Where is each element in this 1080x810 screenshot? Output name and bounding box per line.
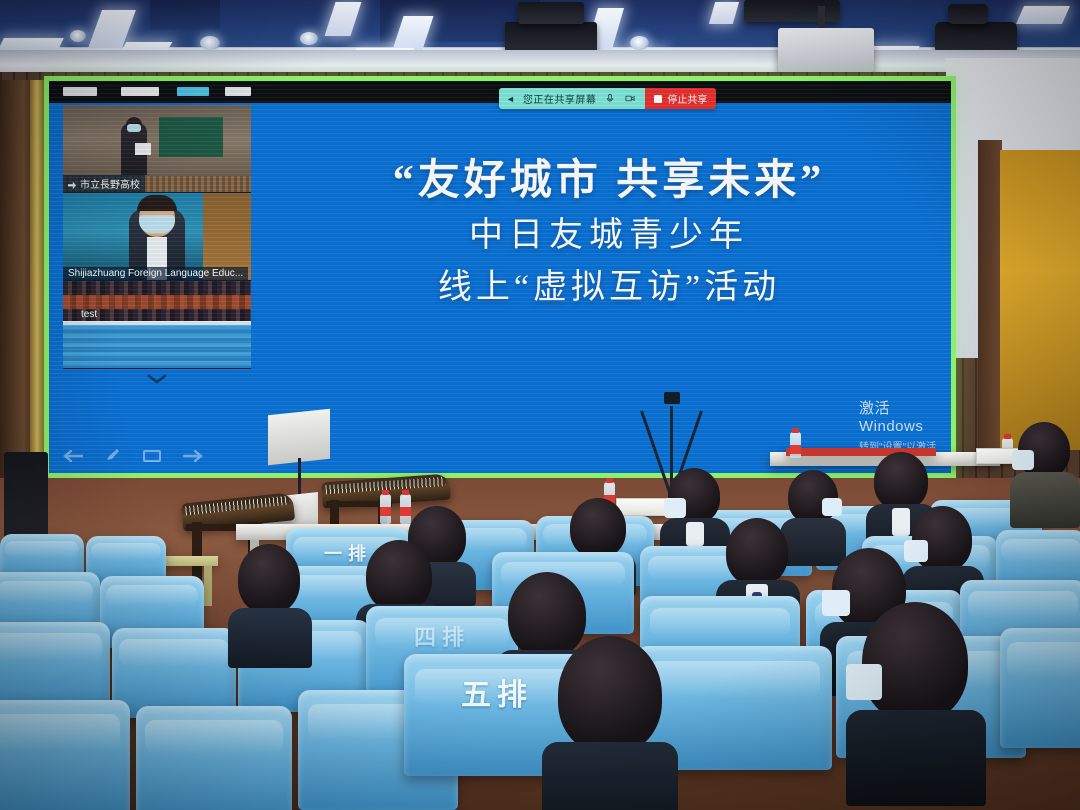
- bottle-cap: [402, 490, 409, 495]
- chair: [112, 628, 236, 718]
- shirt-collar: [686, 522, 704, 546]
- thumbnail-test[interactable]: test: [63, 281, 251, 369]
- face-mask: [139, 215, 175, 233]
- projector: [778, 28, 874, 72]
- microphone-icon[interactable]: [604, 93, 616, 104]
- attendee: [846, 602, 986, 802]
- slide-title-line-1: “友好城市 共享未来”: [259, 153, 951, 210]
- bottle-cap: [792, 428, 799, 433]
- attendee-head: [874, 452, 928, 510]
- left-pillar: [0, 80, 34, 510]
- chair: [136, 706, 292, 810]
- stop-share-label: 停止共享: [667, 91, 707, 106]
- attendee-body: [846, 710, 986, 806]
- pen-icon[interactable]: [105, 448, 121, 467]
- downlight-icon: [630, 36, 649, 50]
- lecture-hall-photo: ◄ 您正在共享屏幕 停止共享: [0, 0, 1080, 810]
- chrome-bar-active: [177, 87, 209, 96]
- attendee-head: [238, 544, 300, 614]
- face-mask: [846, 664, 882, 700]
- back-arrow-icon[interactable]: [63, 449, 83, 467]
- share-status-label: 您正在共享屏幕: [523, 91, 597, 106]
- thumbnail-label-text: Shijiazhuang Foreign Language Educ...: [68, 268, 243, 279]
- attendee-body: [542, 742, 678, 810]
- forward-arrow-icon[interactable]: [183, 449, 203, 467]
- door-frame: [978, 140, 1002, 460]
- chrome-bar: [121, 87, 159, 96]
- watermark-title: 激活 Windows: [859, 397, 951, 435]
- bottle-label: [380, 507, 391, 516]
- wooden-door: [1000, 150, 1080, 450]
- classroom-board: [159, 117, 223, 157]
- water-bottle: [380, 494, 391, 524]
- downlight-icon: [70, 30, 86, 42]
- auditorium-seats: [63, 325, 251, 369]
- projection-screen: ◄ 您正在共享屏幕 停止共享: [44, 76, 956, 478]
- audience-crowd-row: [63, 295, 251, 309]
- tripod-head: [664, 392, 680, 404]
- slide-title-block: “友好城市 共享未来” 中日友城青少年 线上“虚拟互访”活动: [259, 153, 951, 313]
- ceiling-speaker: [518, 2, 584, 24]
- bench-leg: [204, 566, 212, 606]
- thumbnail-expand-toggle[interactable]: [63, 369, 251, 389]
- attendee-body: [228, 608, 312, 668]
- face-mask: [127, 124, 141, 132]
- slide-title-line-3: 线上“虚拟互访”活动: [259, 262, 951, 313]
- chrome-grid-icon: [225, 87, 251, 96]
- ceiling-panel: [150, 0, 220, 30]
- held-paper: [135, 143, 151, 155]
- stand-plate: [268, 409, 330, 466]
- ceiling-speaker: [744, 0, 840, 22]
- ceiling-speaker: [948, 4, 988, 24]
- thumbnail-shijiazhuang[interactable]: Shijiazhuang Foreign Language Educ...: [63, 193, 251, 281]
- guzheng-stand-leg: [192, 522, 202, 584]
- attendee-head: [726, 518, 788, 586]
- stop-square-icon: [654, 95, 662, 103]
- ceiling-light: [1016, 6, 1070, 24]
- share-status: ◄ 您正在共享屏幕: [499, 88, 645, 109]
- thumbnail-label-text: test: [81, 309, 97, 320]
- attendee-head: [912, 506, 972, 572]
- participant-thumbnail-strip[interactable]: 市立長野高校 Shijiazhuang Foreign Language Edu…: [63, 105, 251, 369]
- thumbnail-label: 市立長野高校: [63, 175, 145, 192]
- attendee-head: [558, 636, 662, 754]
- ceiling-light: [324, 2, 361, 36]
- chevron-down-icon: [147, 374, 167, 384]
- stand-pole: [298, 458, 301, 497]
- gold-trim: [30, 80, 44, 510]
- downlight-icon: [300, 32, 318, 45]
- attendee-body: [1010, 472, 1080, 528]
- chrome-bar: [63, 87, 97, 96]
- attendee-head: [570, 498, 626, 558]
- rectangle-icon[interactable]: [143, 449, 161, 467]
- thumbnail-nagano[interactable]: 市立長野高校: [63, 105, 251, 193]
- bottle-label: [790, 445, 801, 454]
- stop-share-button[interactable]: 停止共享: [645, 88, 716, 109]
- slide-annotation-toolbar[interactable]: [63, 448, 203, 467]
- attendee: [1010, 422, 1080, 526]
- water-bottle: [790, 432, 801, 458]
- face-mask: [822, 498, 842, 516]
- attendee-head: [366, 540, 432, 612]
- zoom-share-toolbar[interactable]: ◄ 您正在共享屏幕 停止共享: [499, 88, 716, 109]
- share-pointer-icon: ◄: [506, 94, 515, 104]
- speaker-hair: [137, 195, 177, 211]
- face-mask: [664, 498, 686, 518]
- chair: [0, 700, 130, 810]
- downlight-icon: [200, 36, 220, 50]
- thumbnail-label: Shijiazhuang Foreign Language Educ...: [63, 267, 248, 280]
- attendee-head: [862, 602, 968, 722]
- thumbnail-label-text: 市立長野高校: [80, 180, 140, 191]
- attendee: [228, 544, 312, 664]
- bottle-cap: [382, 490, 389, 495]
- pin-icon: [68, 181, 76, 189]
- attendee: [542, 636, 678, 810]
- shared-screen-content: ◄ 您正在共享屏幕 停止共享: [49, 81, 951, 473]
- slide-title-line-2: 中日友城青少年: [259, 210, 951, 263]
- chair: [1000, 628, 1080, 748]
- ceiling-light: [709, 2, 739, 24]
- face-mask: [1012, 450, 1034, 470]
- camera-icon[interactable]: [624, 93, 636, 104]
- bottle-cap: [606, 478, 613, 483]
